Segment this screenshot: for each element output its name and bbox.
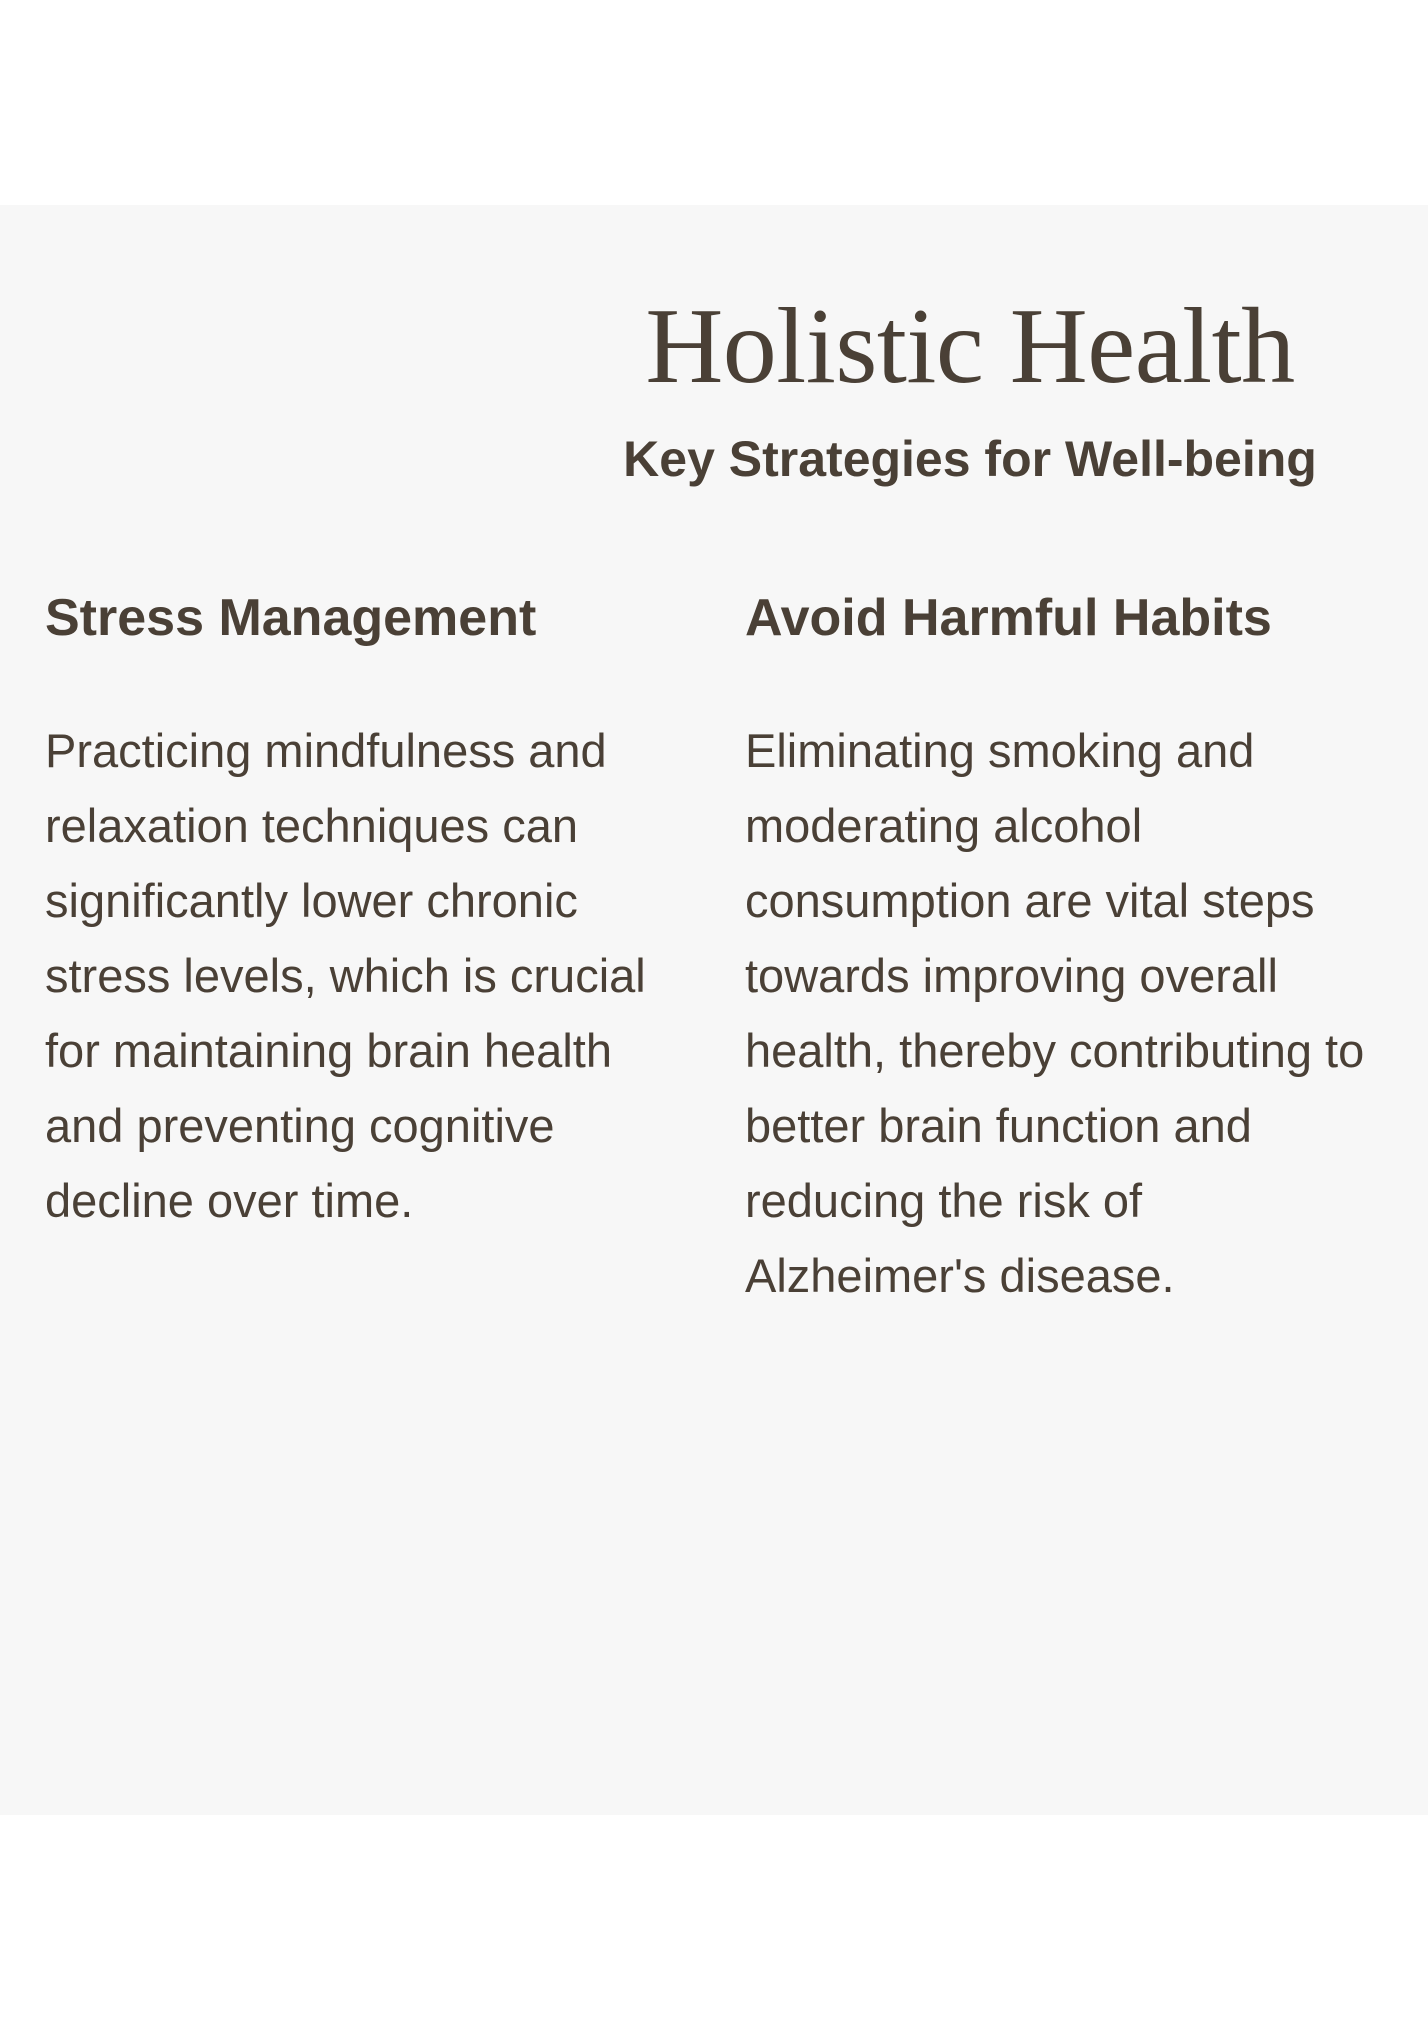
column-stress-management: Stress Management Practicing mindfulness… — [45, 590, 675, 1238]
column-heading: Stress Management — [45, 590, 675, 647]
header: Holistic Health Key Strategies for Well-… — [0, 205, 1428, 491]
column-heading: Avoid Harmful Habits — [745, 590, 1375, 647]
page-title: Holistic Health — [0, 205, 1428, 410]
page-canvas: Holistic Health Key Strategies for Well-… — [0, 0, 1428, 2018]
column-body: Practicing mindfulness and relaxation te… — [45, 713, 675, 1238]
content-card: Holistic Health Key Strategies for Well-… — [0, 205, 1428, 1815]
column-avoid-harmful-habits: Avoid Harmful Habits Eliminating smoking… — [745, 590, 1375, 1313]
page-subtitle: Key Strategies for Well-being — [0, 410, 1428, 491]
columns-container: Stress Management Practicing mindfulness… — [45, 590, 1428, 1313]
column-body: Eliminating smoking and moderating alcoh… — [745, 713, 1375, 1313]
